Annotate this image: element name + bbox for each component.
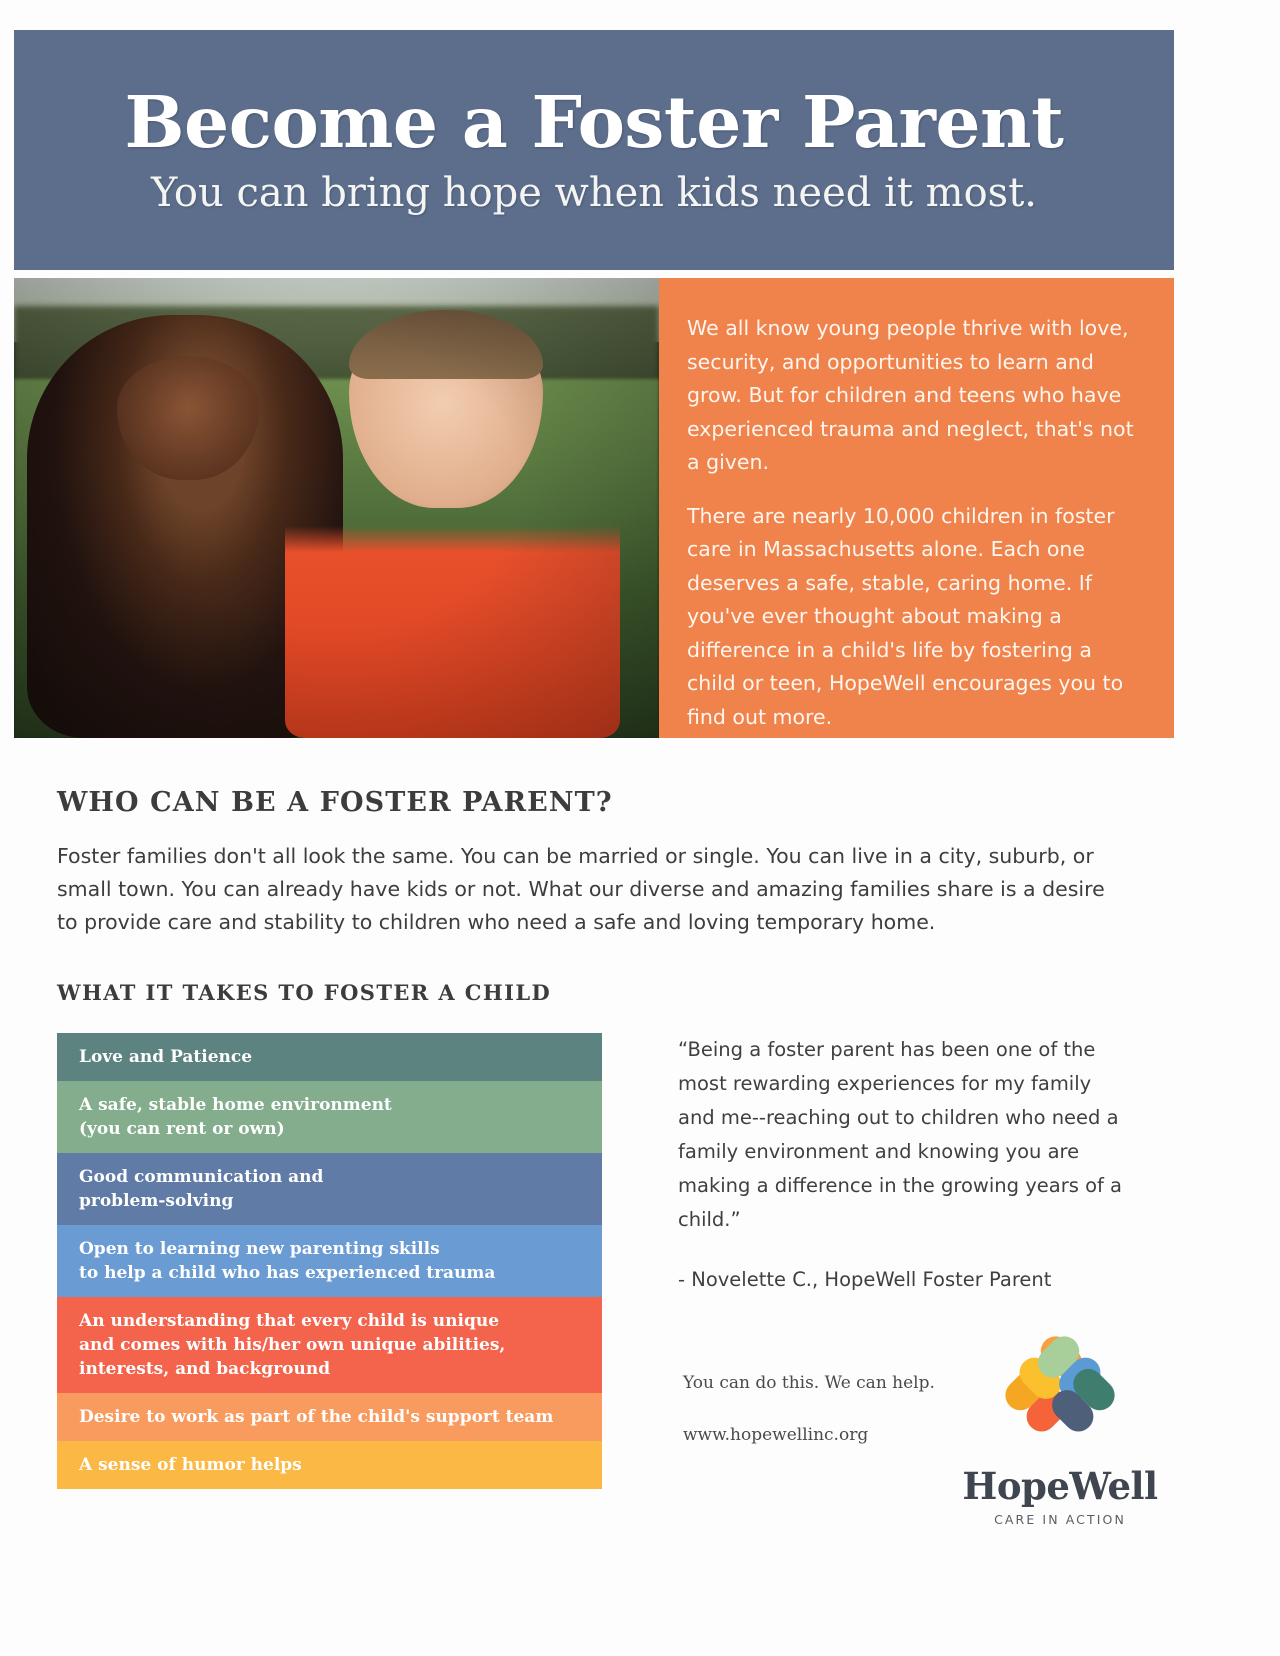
requirement-line: A sense of humor helps bbox=[79, 1453, 302, 1477]
who-section-body: Foster families don't all look the same.… bbox=[57, 840, 1122, 939]
testimonial-quote: “Being a foster parent has been one of t… bbox=[678, 1033, 1130, 1237]
requirements-bar-list: Love and PatienceA safe, stable home env… bbox=[57, 1033, 602, 1489]
testimonial-block: “Being a foster parent has been one of t… bbox=[678, 1033, 1130, 1297]
children-photo bbox=[14, 278, 659, 738]
cta-website-url[interactable]: www.hopewellinc.org bbox=[683, 1422, 973, 1448]
requirement-line: interests, and background bbox=[79, 1357, 505, 1381]
requirement-line: and comes with his/her own unique abilit… bbox=[79, 1333, 505, 1357]
hopewell-logo: HopeWell CARE IN ACTION bbox=[960, 1325, 1160, 1527]
requirement-bar: Good communication andproblem-solving bbox=[57, 1153, 602, 1225]
who-section-heading: WHO CAN BE A FOSTER PARENT? bbox=[57, 787, 613, 818]
requirement-line: to help a child who has experienced trau… bbox=[79, 1261, 495, 1285]
hopewell-pinwheel-icon bbox=[990, 1325, 1130, 1465]
requirement-bar: A safe, stable home environment(you can … bbox=[57, 1081, 602, 1153]
testimonial-attribution: - Novelette C., HopeWell Foster Parent bbox=[678, 1263, 1130, 1297]
intro-paragraph-2: There are nearly 10,000 children in fost… bbox=[687, 500, 1140, 735]
intro-panel: We all know young people thrive with lov… bbox=[659, 278, 1174, 738]
call-to-action: You can do this. We can help. www.hopewe… bbox=[683, 1370, 973, 1474]
intro-paragraph-1: We all know young people thrive with lov… bbox=[687, 312, 1140, 480]
requirement-line: problem-solving bbox=[79, 1189, 323, 1213]
requirement-bar: Love and Patience bbox=[57, 1033, 602, 1081]
page-title: Become a Foster Parent bbox=[125, 87, 1064, 158]
requirements-section-heading: WHAT IT TAKES TO FOSTER A CHILD bbox=[57, 980, 551, 1005]
requirement-bar: Open to learning new parenting skillsto … bbox=[57, 1225, 602, 1297]
logo-wordmark: HopeWell bbox=[960, 1467, 1160, 1506]
flyer-page: Become a Foster Parent You can bring hop… bbox=[0, 0, 1280, 1656]
requirement-bar: A sense of humor helps bbox=[57, 1441, 602, 1489]
hero-banner: Become a Foster Parent You can bring hop… bbox=[14, 30, 1174, 270]
requirement-line: Good communication and bbox=[79, 1165, 323, 1189]
requirement-bar: Desire to work as part of the child's su… bbox=[57, 1393, 602, 1441]
requirement-line: A safe, stable home environment bbox=[79, 1093, 392, 1117]
hero-media-row: We all know young people thrive with lov… bbox=[14, 278, 1174, 738]
cta-line-1: You can do this. We can help. bbox=[683, 1370, 973, 1396]
page-subtitle: You can bring hope when kids need it mos… bbox=[151, 172, 1037, 214]
requirement-line: Open to learning new parenting skills bbox=[79, 1237, 495, 1261]
requirement-line: (you can rent or own) bbox=[79, 1117, 392, 1141]
requirement-line: Love and Patience bbox=[79, 1045, 252, 1069]
requirement-bar: An understanding that every child is uni… bbox=[57, 1297, 602, 1393]
requirement-line: Desire to work as part of the child's su… bbox=[79, 1405, 553, 1429]
requirement-line: An understanding that every child is uni… bbox=[79, 1309, 505, 1333]
photo-vignette bbox=[14, 278, 659, 738]
logo-tagline: CARE IN ACTION bbox=[960, 1512, 1160, 1527]
